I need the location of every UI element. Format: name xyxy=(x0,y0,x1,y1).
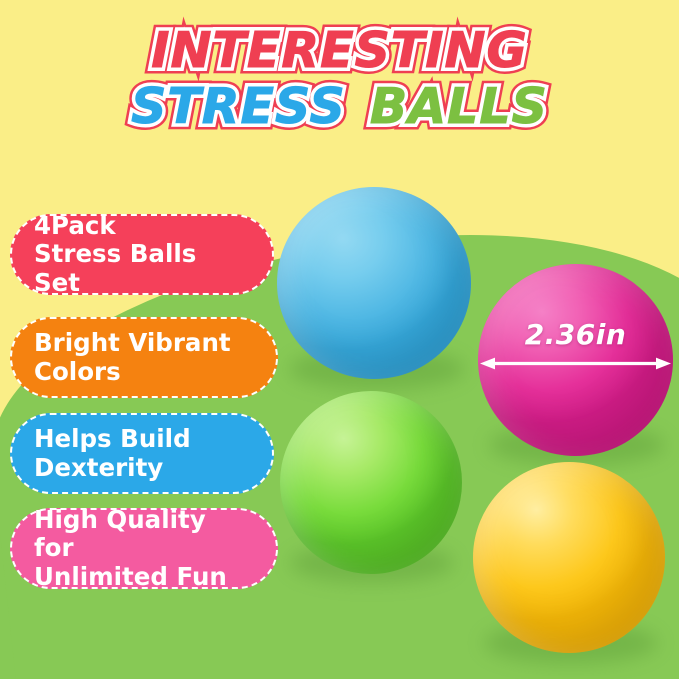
feature-pill-4pack: 4Pack Stress Balls Set xyxy=(10,214,274,295)
feature-pill-quality-line2: Unlimited Fun xyxy=(34,563,242,591)
product-image: INTERESTING INTERESTING INTERESTING STRE… xyxy=(0,0,679,679)
feature-pill-colors: Bright Vibrant Colors xyxy=(10,317,278,398)
stress-ball-yellow xyxy=(473,462,665,653)
feature-pill-quality: High Quality for Unlimited Fun xyxy=(10,508,278,589)
feature-pill-dexterity-line1: Helps Build xyxy=(34,425,238,453)
feature-pill-4pack-line1: 4Pack xyxy=(34,212,238,240)
feature-pill-colors-line1: Bright Vibrant xyxy=(34,329,242,357)
feature-pill-dexterity: Helps Build Dexterity xyxy=(10,413,274,494)
feature-pill-colors-line2: Colors xyxy=(34,358,242,386)
stress-ball-blue xyxy=(277,187,471,379)
stress-ball-pink xyxy=(478,264,673,456)
stress-ball-green xyxy=(280,391,462,574)
feature-pill-quality-line1: High Quality for xyxy=(34,506,242,563)
feature-pill-dexterity-line2: Dexterity xyxy=(34,454,238,482)
feature-pill-4pack-line2: Stress Balls Set xyxy=(34,240,238,297)
